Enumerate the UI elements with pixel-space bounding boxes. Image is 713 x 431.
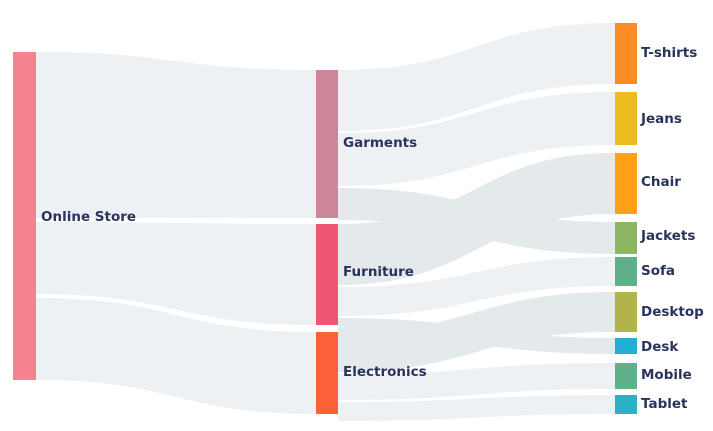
sankey-label-desktop: Desktop [641,304,704,320]
sankey-label-garments: Garments [343,135,417,151]
sankey-node-mobile[interactable] [615,363,637,389]
sankey-node-electronics[interactable] [316,332,338,414]
sankey-node-desk[interactable] [615,338,637,354]
sankey-node-jeans[interactable] [615,92,637,145]
sankey-canvas: Online StoreGarmentsFurnitureElectronics… [0,0,713,431]
sankey-label-tshirts: T-shirts [641,45,697,61]
sankey-node-desktop[interactable] [615,292,637,332]
sankey-label-online_store: Online Store [41,209,136,225]
sankey-label-tablet: Tablet [641,396,688,412]
sankey-node-tshirts[interactable] [615,23,637,84]
sankey-label-mobile: Mobile [641,367,692,383]
sankey-label-jeans: Jeans [640,111,682,127]
sankey-label-furniture: Furniture [343,264,414,280]
sankey-node-online_store[interactable] [13,52,36,380]
sankey-node-furniture[interactable] [316,224,338,325]
sankey-node-jackets[interactable] [615,222,637,254]
sankey-label-electronics: Electronics [343,364,427,380]
sankey-label-jackets: Jackets [640,228,695,244]
sankey-label-desk: Desk [641,339,679,355]
sankey-label-chair: Chair [641,174,681,190]
sankey-diagram: Online StoreGarmentsFurnitureElectronics… [0,0,713,431]
sankey-link-online_store-garments[interactable] [36,52,316,218]
sankey-node-garments[interactable] [316,70,338,218]
sankey-label-sofa: Sofa [641,263,675,279]
sankey-node-chair[interactable] [615,153,637,214]
sankey-node-sofa[interactable] [615,257,637,286]
sankey-node-tablet[interactable] [615,395,637,414]
